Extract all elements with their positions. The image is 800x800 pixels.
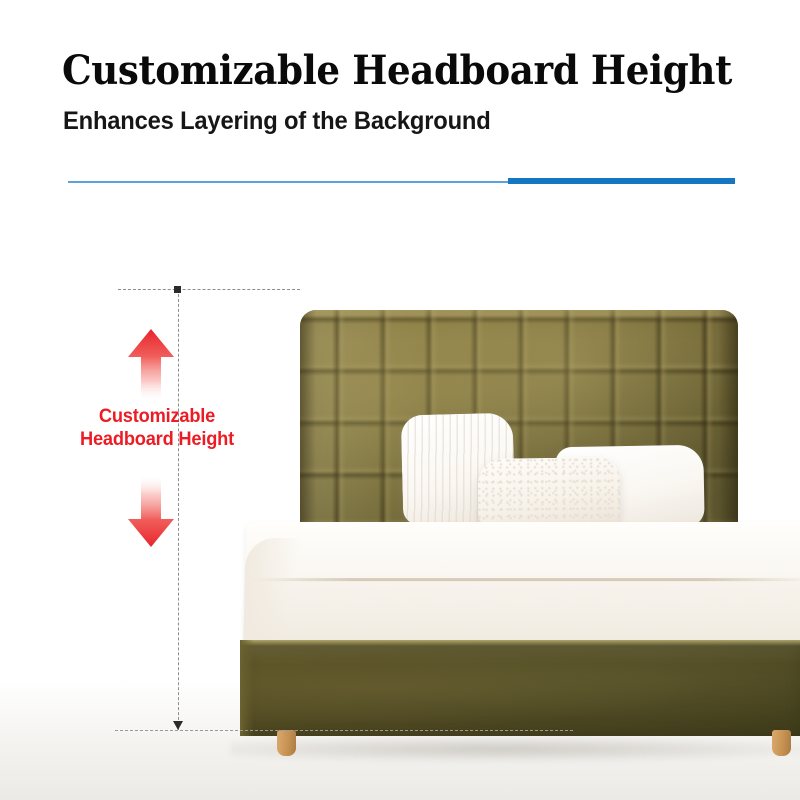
bed-mattress	[243, 522, 800, 655]
headboard-top-highlight	[300, 310, 738, 320]
mattress-left-corner	[243, 538, 306, 655]
arrow-down-icon	[127, 474, 175, 548]
mattress-seam	[253, 578, 800, 581]
bed-base	[240, 640, 800, 736]
bed-leg-left	[277, 730, 296, 756]
dimension-label-line1: Customizable	[99, 406, 215, 427]
product-infographic-page: Customizable Headboard Height Enhances L…	[0, 0, 800, 800]
dimension-label-line2: Headboard Height	[43, 428, 271, 451]
page-subtitle: Enhances Layering of the Background	[63, 106, 728, 136]
divider-thin-segment	[68, 181, 510, 183]
dimension-line-top	[118, 289, 300, 290]
bed-floor-shadow	[230, 736, 800, 762]
base-velvet-texture	[240, 640, 800, 736]
product-photo-scene	[0, 210, 800, 800]
divider-thick-segment	[508, 178, 735, 184]
header-block: Customizable Headboard Height Enhances L…	[0, 0, 800, 210]
bed-leg-right	[772, 730, 791, 756]
dimension-label: Customizable Headboard Height	[43, 405, 271, 451]
page-title: Customizable Headboard Height	[62, 48, 704, 94]
base-left-face	[240, 640, 254, 736]
dimension-line-bottom	[115, 730, 573, 731]
arrow-up-icon	[127, 328, 175, 402]
boucle-lumbar-pillow	[478, 457, 621, 530]
mattress-top-surface	[245, 522, 800, 580]
dimension-line-vertical	[178, 289, 179, 730]
dimension-cap-bottom	[173, 721, 183, 730]
dimension-cap-top	[174, 286, 181, 293]
